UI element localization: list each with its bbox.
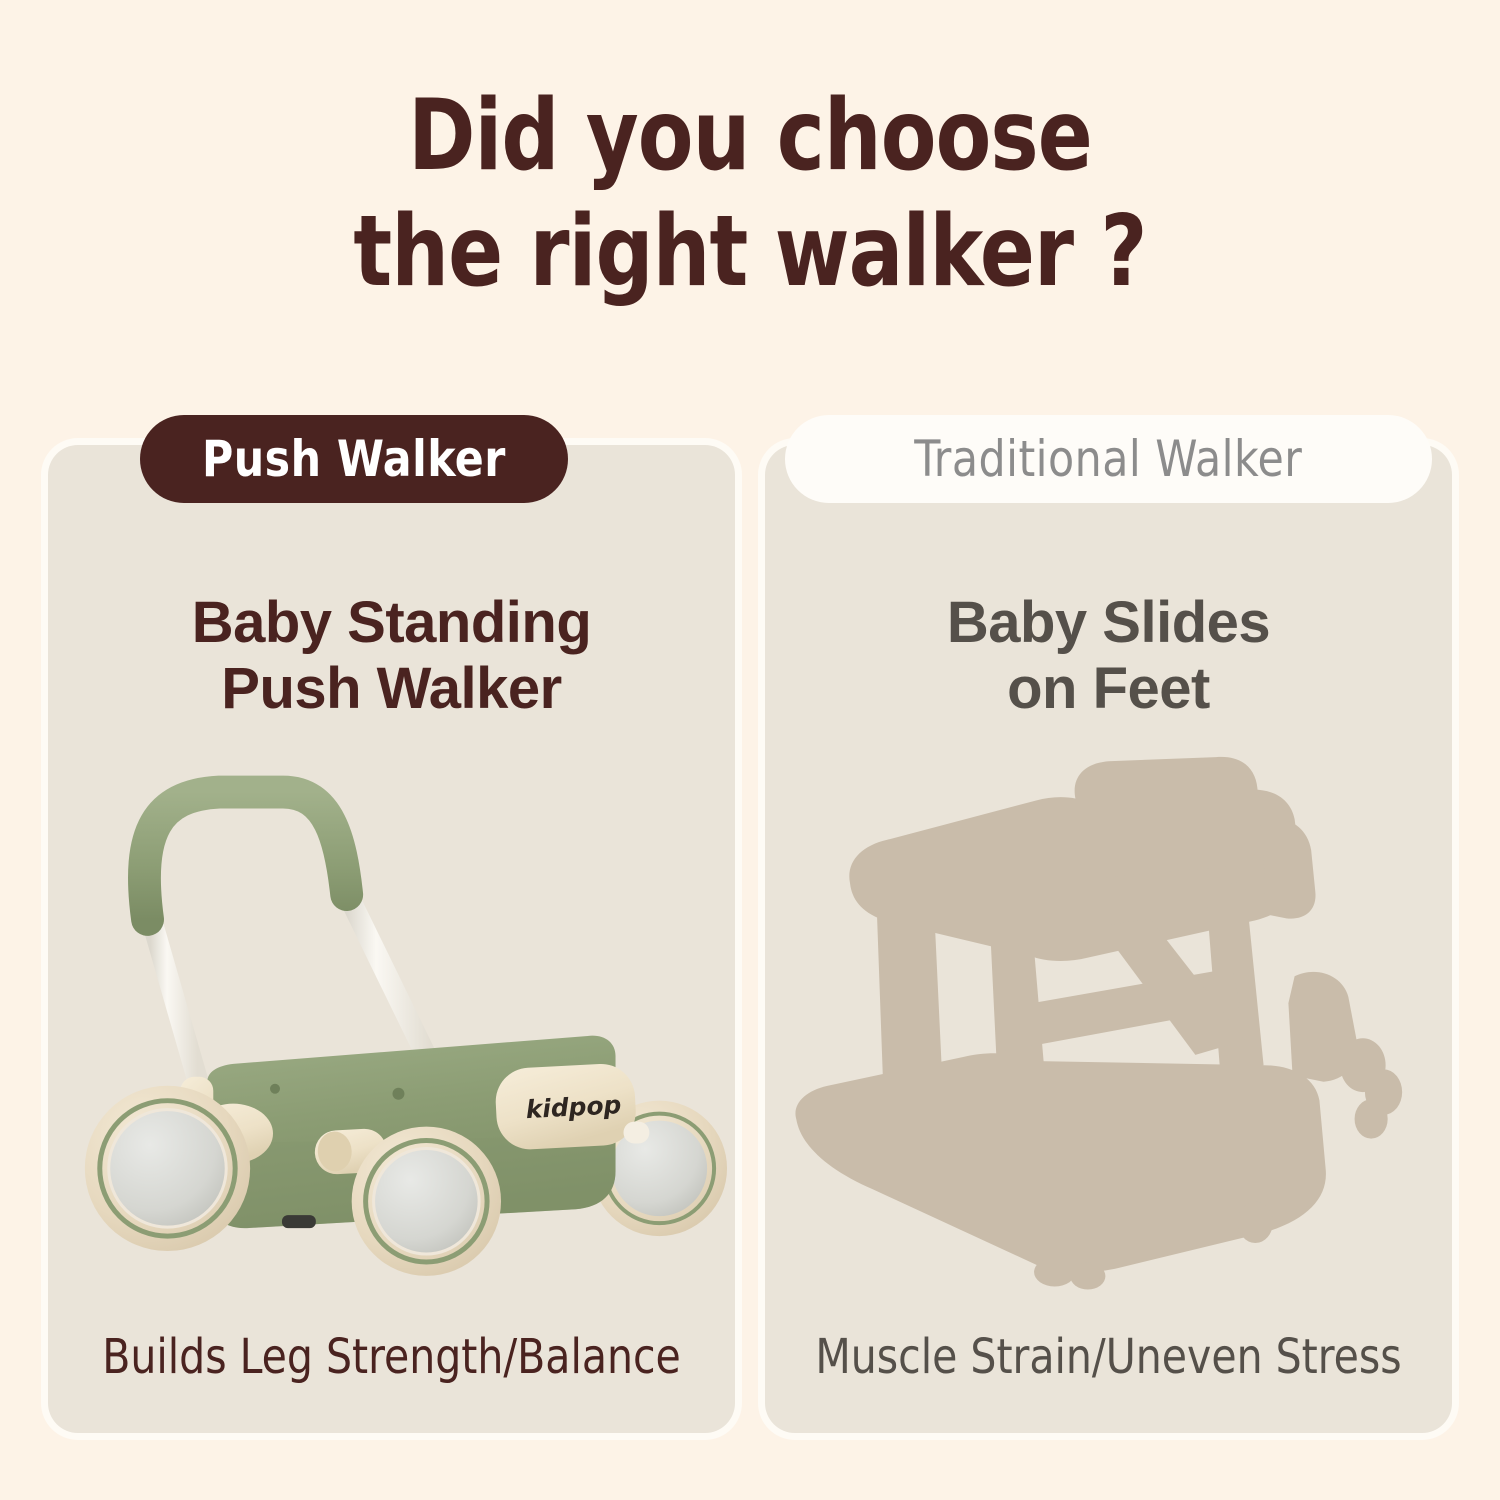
card-heading-push-walker-line-2: Push Walker bbox=[48, 656, 735, 722]
wheel-front-right bbox=[352, 1127, 501, 1276]
card-heading-push-walker-line-1: Baby Standing bbox=[48, 590, 735, 656]
card-heading-traditional-walker-line-1: Baby Slides bbox=[765, 590, 1452, 656]
traditional-walker-image bbox=[765, 755, 1452, 1303]
badge-traditional-walker[interactable]: Traditional Walker bbox=[785, 415, 1432, 503]
foot-left bbox=[282, 1215, 316, 1228]
card-heading-traditional-walker: Baby Slides on Feet bbox=[765, 590, 1452, 722]
walker-silhouette-shape bbox=[795, 757, 1402, 1290]
traditional-walker-silhouette bbox=[765, 755, 1452, 1303]
card-caption-push-walker: Builds Leg Strength/Balance bbox=[65, 1329, 718, 1385]
handle-grip bbox=[144, 792, 346, 919]
axle-stub bbox=[623, 1122, 649, 1144]
page-title-line-1: Did you choose bbox=[60, 78, 1440, 194]
card-heading-traditional-walker-line-2: on Feet bbox=[765, 656, 1452, 722]
push-walker-image: kidpop bbox=[48, 755, 735, 1303]
badge-push-walker[interactable]: Push Walker bbox=[140, 415, 568, 503]
card-heading-push-walker: Baby Standing Push Walker bbox=[48, 590, 735, 722]
card-caption-traditional-walker: Muscle Strain/Uneven Stress bbox=[782, 1329, 1435, 1385]
page-title-line-2: the right walker ? bbox=[60, 194, 1440, 310]
handle-poles bbox=[151, 893, 431, 1079]
badge-traditional-walker-label: Traditional Walker bbox=[914, 430, 1302, 488]
wheel-front-left bbox=[85, 1086, 250, 1251]
badge-push-walker-label: Push Walker bbox=[202, 430, 506, 488]
comparison-cards: Push Walker Baby Standing Push Walker bbox=[48, 445, 1452, 1433]
push-walker-illustration: kidpop bbox=[48, 755, 735, 1303]
card-push-walker[interactable]: Push Walker Baby Standing Push Walker bbox=[48, 445, 735, 1433]
page-title: Did you choose the right walker ? bbox=[0, 78, 1500, 310]
brand-panel: kidpop bbox=[494, 1062, 637, 1151]
card-traditional-walker[interactable]: Traditional Walker Baby Slides on Feet bbox=[765, 445, 1452, 1433]
brand-logo-text: kidpop bbox=[525, 1090, 622, 1124]
